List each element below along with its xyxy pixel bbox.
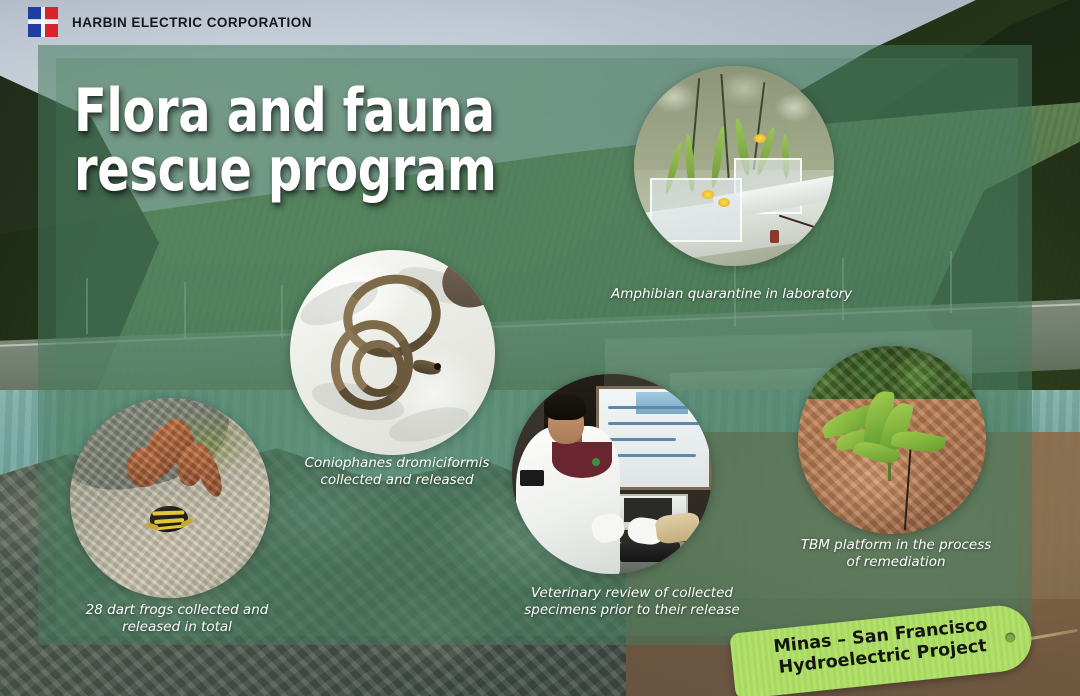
tbm-platform-photo[interactable] xyxy=(798,346,986,534)
hec-logo-icon xyxy=(28,7,58,37)
snake-photo[interactable] xyxy=(290,250,495,455)
vet-shirt-collar xyxy=(552,442,612,478)
dart-frog-photo[interactable] xyxy=(70,398,270,598)
project-tag: Minas – San Francisco Hydroelectric Proj… xyxy=(718,606,1070,696)
tag-body: Minas – San Francisco Hydroelectric Proj… xyxy=(729,603,1034,696)
lab-rock-wall xyxy=(634,66,834,170)
dart-frog-caption: 28 dart frogs collected and released in … xyxy=(52,602,302,637)
snake-eye xyxy=(434,363,441,370)
veterinary-photo[interactable] xyxy=(512,374,712,574)
background-lamp-post xyxy=(86,278,88,334)
tbm-platform-caption: TBM platform in the process of remediati… xyxy=(772,537,1020,572)
frog-sand-texture xyxy=(70,398,270,598)
project-tag-label: Minas – San Francisco Hydroelectric Proj… xyxy=(742,612,1021,683)
header-bar: HARBIN ELECTRIC CORPORATION xyxy=(0,0,1080,44)
background-lamp-post xyxy=(281,285,283,337)
brand-name: HARBIN ELECTRIC CORPORATION xyxy=(72,15,312,30)
amphibian-lab-caption: Amphibian quarantine in laboratory xyxy=(611,286,901,303)
vet-hair xyxy=(544,394,586,420)
amphibian-lab-photo[interactable] xyxy=(634,66,834,266)
vet-lapel-pin xyxy=(592,458,600,466)
lab-plug xyxy=(770,230,779,243)
vet-scale xyxy=(620,542,680,562)
background-lamp-post xyxy=(950,251,952,314)
snake-caption: Coniophanes dromiciformis collected and … xyxy=(282,455,512,490)
slide-canvas: HARBIN ELECTRIC CORPORATION Flora and fa… xyxy=(0,0,1080,696)
vet-board-graphic xyxy=(636,392,688,414)
page-title: Flora and fauna rescue program xyxy=(74,82,497,200)
vet-arm-badge xyxy=(520,470,544,486)
lab-terrarium xyxy=(650,178,742,242)
background-lamp-post xyxy=(184,282,186,338)
